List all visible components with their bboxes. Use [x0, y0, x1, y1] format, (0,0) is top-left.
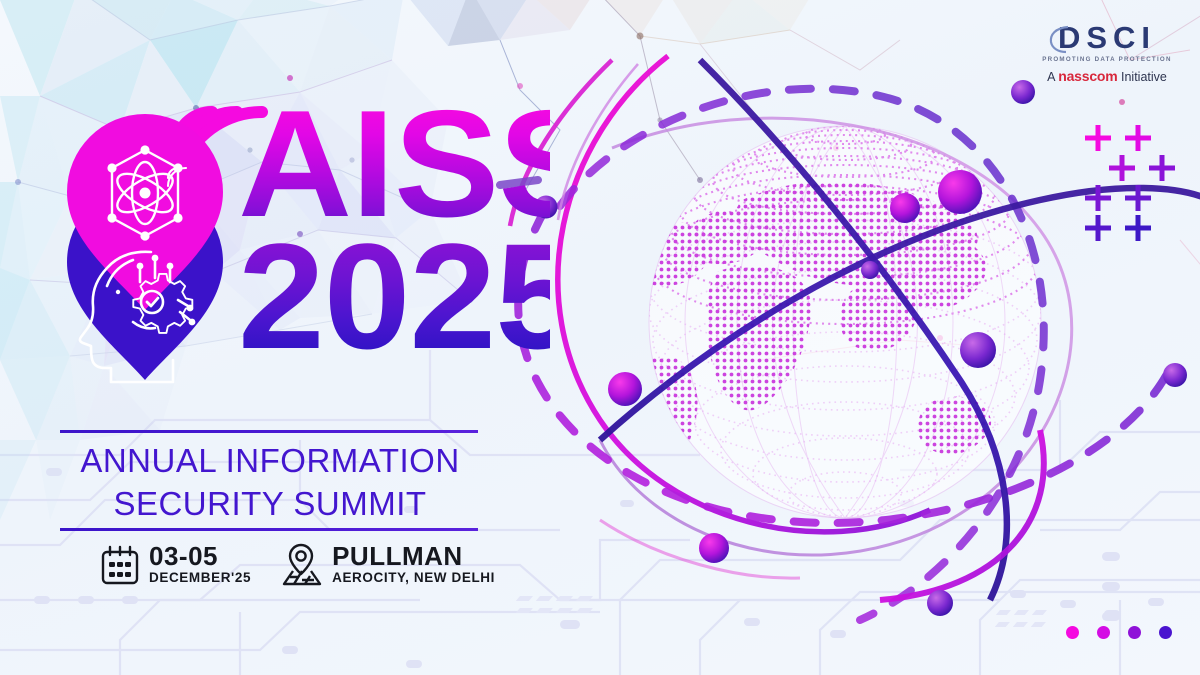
- dsci-tagline: PROMOTING DATA PROTECTION: [1032, 56, 1182, 63]
- title-block: AISS 2025: [238, 104, 538, 356]
- calendar-icon: [100, 544, 140, 586]
- title-year: 2025: [238, 236, 550, 356]
- dsci-wordmark: DSCI: [1058, 22, 1156, 53]
- event-venue: PULLMAN AEROCITY, NEW DELHI: [281, 543, 495, 587]
- initiative-suffix: Initiative: [1118, 70, 1167, 84]
- pager-dot-4: [1159, 626, 1172, 639]
- page-title: AISS: [238, 104, 550, 226]
- divider-top: [60, 430, 478, 433]
- poster-canvas: AISS 2025 ANNUAL INFORMATION SECURITY SU…: [0, 0, 1200, 675]
- initiative-prefix: A: [1047, 70, 1058, 84]
- subtitle-line-2: SECURITY SUMMIT: [58, 483, 482, 526]
- dsci-initiative: A nasscom Initiative: [1032, 68, 1182, 84]
- dsci-logo: DSCI PROMOTING DATA PROTECTION A nasscom…: [1032, 22, 1182, 84]
- subtitle-line-1: ANNUAL INFORMATION: [80, 442, 459, 479]
- pager-dot-3: [1128, 626, 1141, 639]
- event-info-row: 03-05 DECEMBER'25 PULLMAN AEROCITY, NEW …: [100, 543, 495, 587]
- map-pin-icon: [281, 543, 323, 587]
- divider-bottom: [60, 528, 478, 531]
- event-date-month: DECEMBER'25: [149, 569, 251, 587]
- pager-dots: [1066, 626, 1172, 639]
- pager-dot-1: [1066, 626, 1079, 639]
- event-date-range: 03-05: [149, 543, 251, 569]
- event-date: 03-05 DECEMBER'25: [100, 543, 251, 587]
- subtitle: ANNUAL INFORMATION SECURITY SUMMIT: [58, 440, 482, 526]
- dsci-swoosh-icon: [1049, 24, 1071, 54]
- venue-location: AEROCITY, NEW DELHI: [332, 569, 495, 587]
- nasscom-wordmark: nasscom: [1058, 68, 1117, 84]
- venue-name: PULLMAN: [332, 543, 495, 569]
- pager-dot-2: [1097, 626, 1110, 639]
